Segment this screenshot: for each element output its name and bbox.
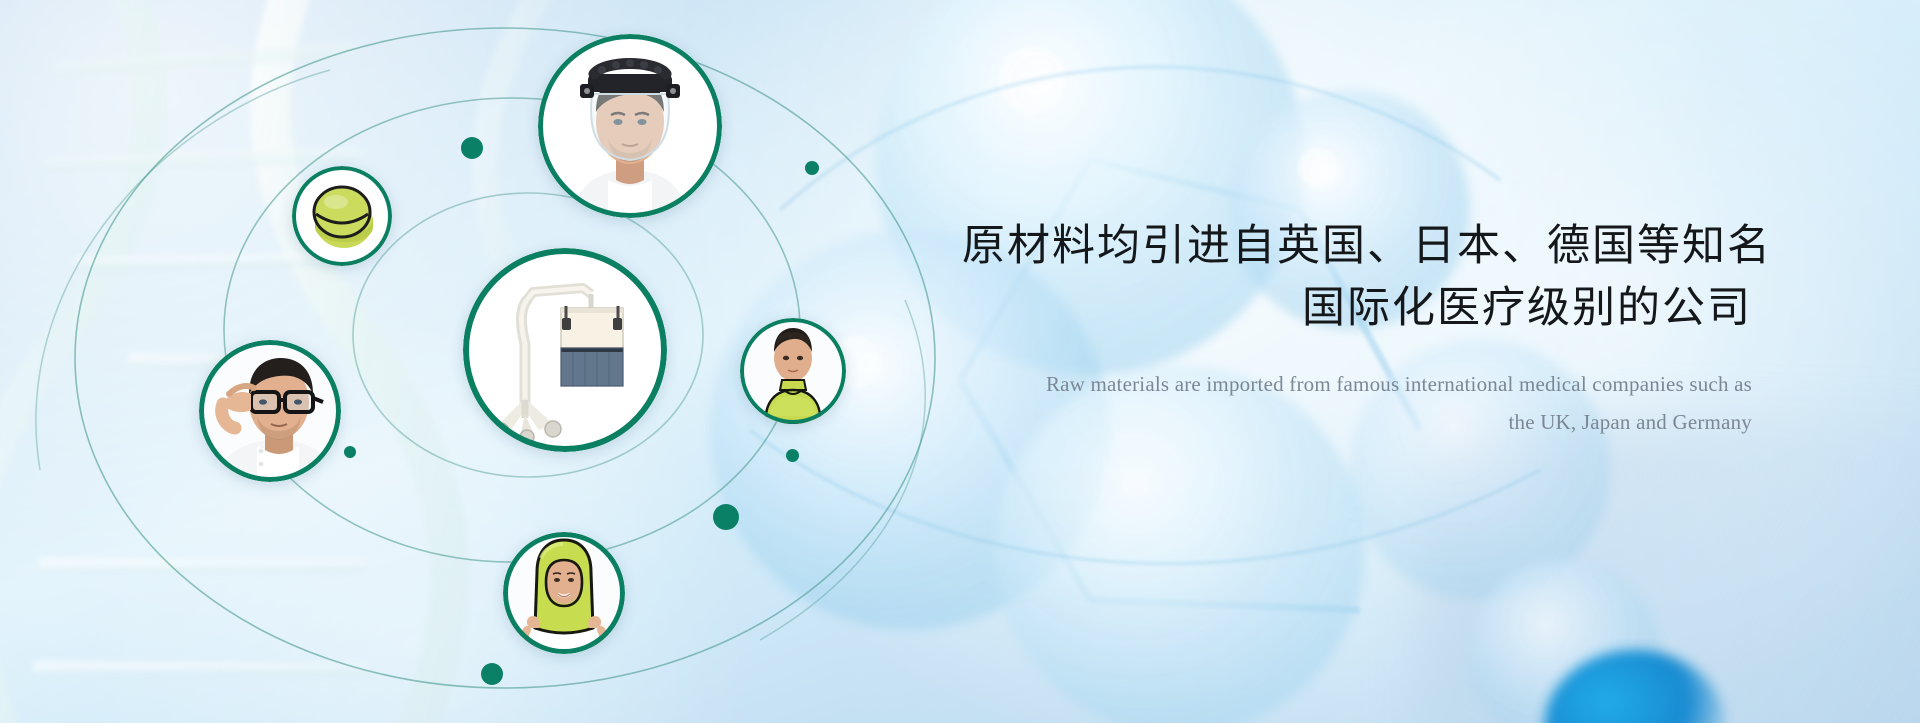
node-protective-cap[interactable] [292, 166, 392, 266]
subtitle-line-1: Raw materials are imported from famous i… [962, 365, 1752, 403]
node-face-shield[interactable] [538, 34, 722, 218]
headline-line-1: 原材料均引进自英国、日本、德国等知名 [962, 215, 1752, 277]
orbit-dot [805, 161, 819, 175]
orbit-dot [713, 504, 739, 530]
orbit-dot [481, 663, 503, 685]
photo-woman-thyroid-collar [740, 318, 846, 424]
promo-banner: 原材料均引进自英国、日本、德国等知名 国际化医疗级别的公司 Raw materi… [0, 0, 1920, 723]
subtitle-line-2: the UK, Japan and Germany [962, 403, 1752, 441]
photo-mobile-xray-shield [463, 248, 667, 452]
orbit-dot [344, 446, 356, 458]
node-thyroid-collar[interactable] [740, 318, 846, 424]
blue-sphere-decor [1545, 650, 1725, 723]
orbit-dot [786, 449, 799, 462]
photo-woman-protective-hood [503, 532, 625, 654]
node-lead-glasses[interactable] [199, 340, 341, 482]
node-protective-hood[interactable] [503, 532, 625, 654]
headline-line-2: 国际化医疗级别的公司 [962, 277, 1752, 339]
node-mobile-shield[interactable] [463, 248, 667, 452]
photo-protective-cap [292, 166, 392, 266]
orbit-dot [461, 137, 483, 159]
photo-man-lead-glasses [199, 340, 341, 482]
photo-man-face-shield [538, 34, 722, 218]
copy-spacer [962, 339, 1752, 365]
banner-copy: 原材料均引进自英国、日本、德国等知名 国际化医疗级别的公司 Raw materi… [962, 215, 1752, 441]
